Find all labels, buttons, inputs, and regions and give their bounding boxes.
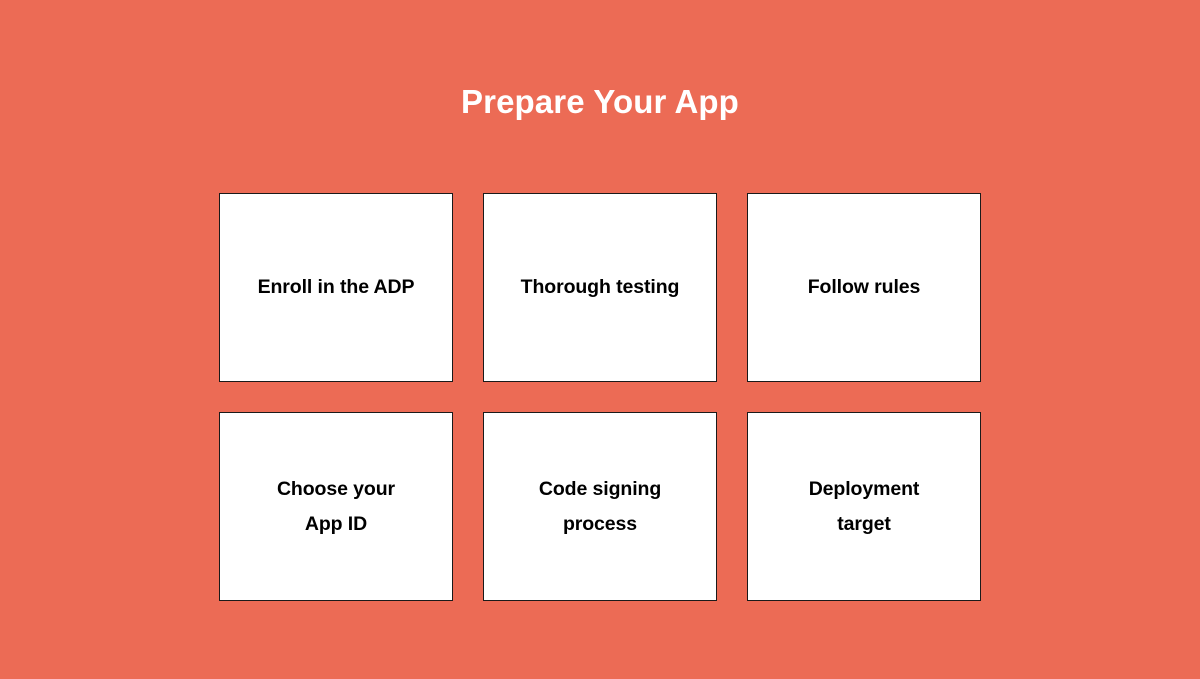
page-title: Prepare Your App	[0, 80, 1200, 124]
card-deployment-target[interactable]: Deployment target	[747, 412, 981, 601]
slide-canvas: Prepare Your App Enroll in the ADP Thoro…	[0, 0, 1200, 679]
card-label: Enroll in the ADP	[258, 270, 415, 305]
card-label: Deployment target	[809, 472, 920, 542]
card-label: Code signing process	[539, 472, 661, 542]
card-label: Thorough testing	[521, 270, 680, 305]
card-label: Choose your App ID	[277, 472, 395, 542]
card-code-signing-process[interactable]: Code signing process	[483, 412, 717, 601]
card-grid: Enroll in the ADP Thorough testing Follo…	[219, 193, 981, 600]
card-thorough-testing[interactable]: Thorough testing	[483, 193, 717, 382]
card-choose-your-app-id[interactable]: Choose your App ID	[219, 412, 453, 601]
card-label: Follow rules	[808, 270, 921, 305]
card-enroll-in-the-adp[interactable]: Enroll in the ADP	[219, 193, 453, 382]
card-follow-rules[interactable]: Follow rules	[747, 193, 981, 382]
